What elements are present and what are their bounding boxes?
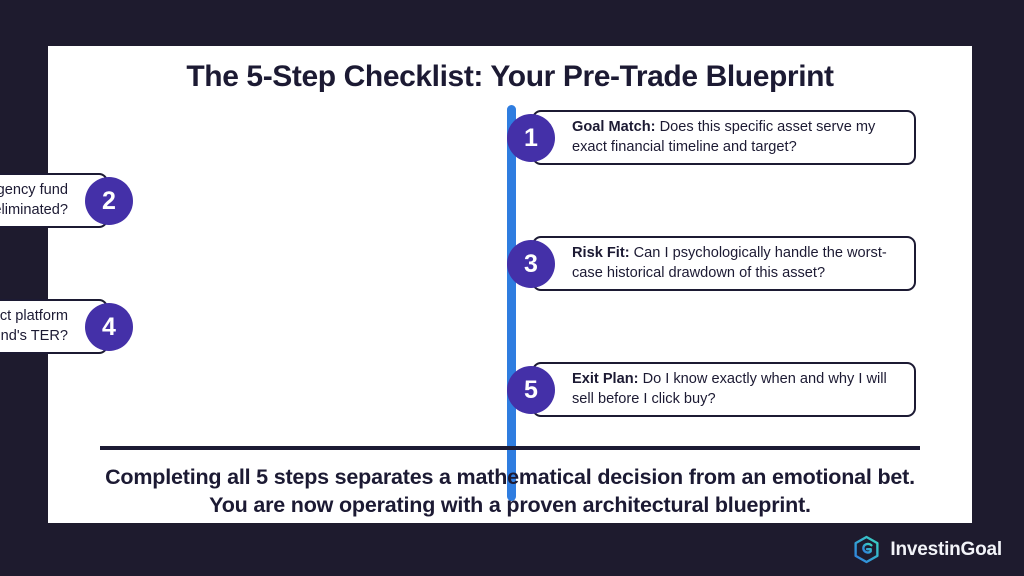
step-number-badge: 3 (507, 240, 555, 288)
step-card: Risk Fit: Can I psychologically handle t… (532, 236, 916, 291)
step-number-badge: 1 (507, 114, 555, 162)
step-label: Exit Plan: (572, 371, 639, 387)
summary-note: Completing all 5 steps separates a mathe… (88, 464, 932, 519)
infographic-canvas: The 5-Step Checklist: Your Pre-Trade Blu… (0, 0, 1024, 576)
brand-logo[interactable]: InvestinGoal (852, 535, 1002, 564)
brand-name: InvestinGoal (890, 539, 1002, 561)
step-body: Have I calculated the exact platform fee… (0, 308, 68, 344)
step-body: Is my 3-6 month emergency fund full, and… (0, 182, 68, 218)
step-text: Exit Plan: Do I know exactly when and wh… (572, 370, 898, 409)
step-card: Goal Match: Does this specific asset ser… (532, 110, 916, 165)
hexagon-g-logo-icon (852, 535, 881, 564)
step-text: Goal Match: Does this specific asset ser… (572, 118, 898, 157)
step-text: Total Costs: Have I calculated the exact… (0, 307, 68, 346)
step-label: Risk Fit: (572, 245, 630, 261)
steps-list: Goal Match: Does this specific asset ser… (48, 46, 972, 523)
step-text: Risk Fit: Can I psychologically handle t… (572, 244, 898, 283)
section-divider (100, 446, 920, 450)
step-number-badge: 2 (85, 177, 133, 225)
step-number-badge: 5 (507, 366, 555, 414)
step-label: Goal Match: (572, 119, 656, 135)
step-card: Exit Plan: Do I know exactly when and wh… (532, 362, 916, 417)
white-board: The 5-Step Checklist: Your Pre-Trade Blu… (48, 46, 972, 523)
step-number-badge: 4 (85, 303, 133, 351)
step-text: Prerequisites: Is my 3-6 month emergency… (0, 181, 68, 220)
